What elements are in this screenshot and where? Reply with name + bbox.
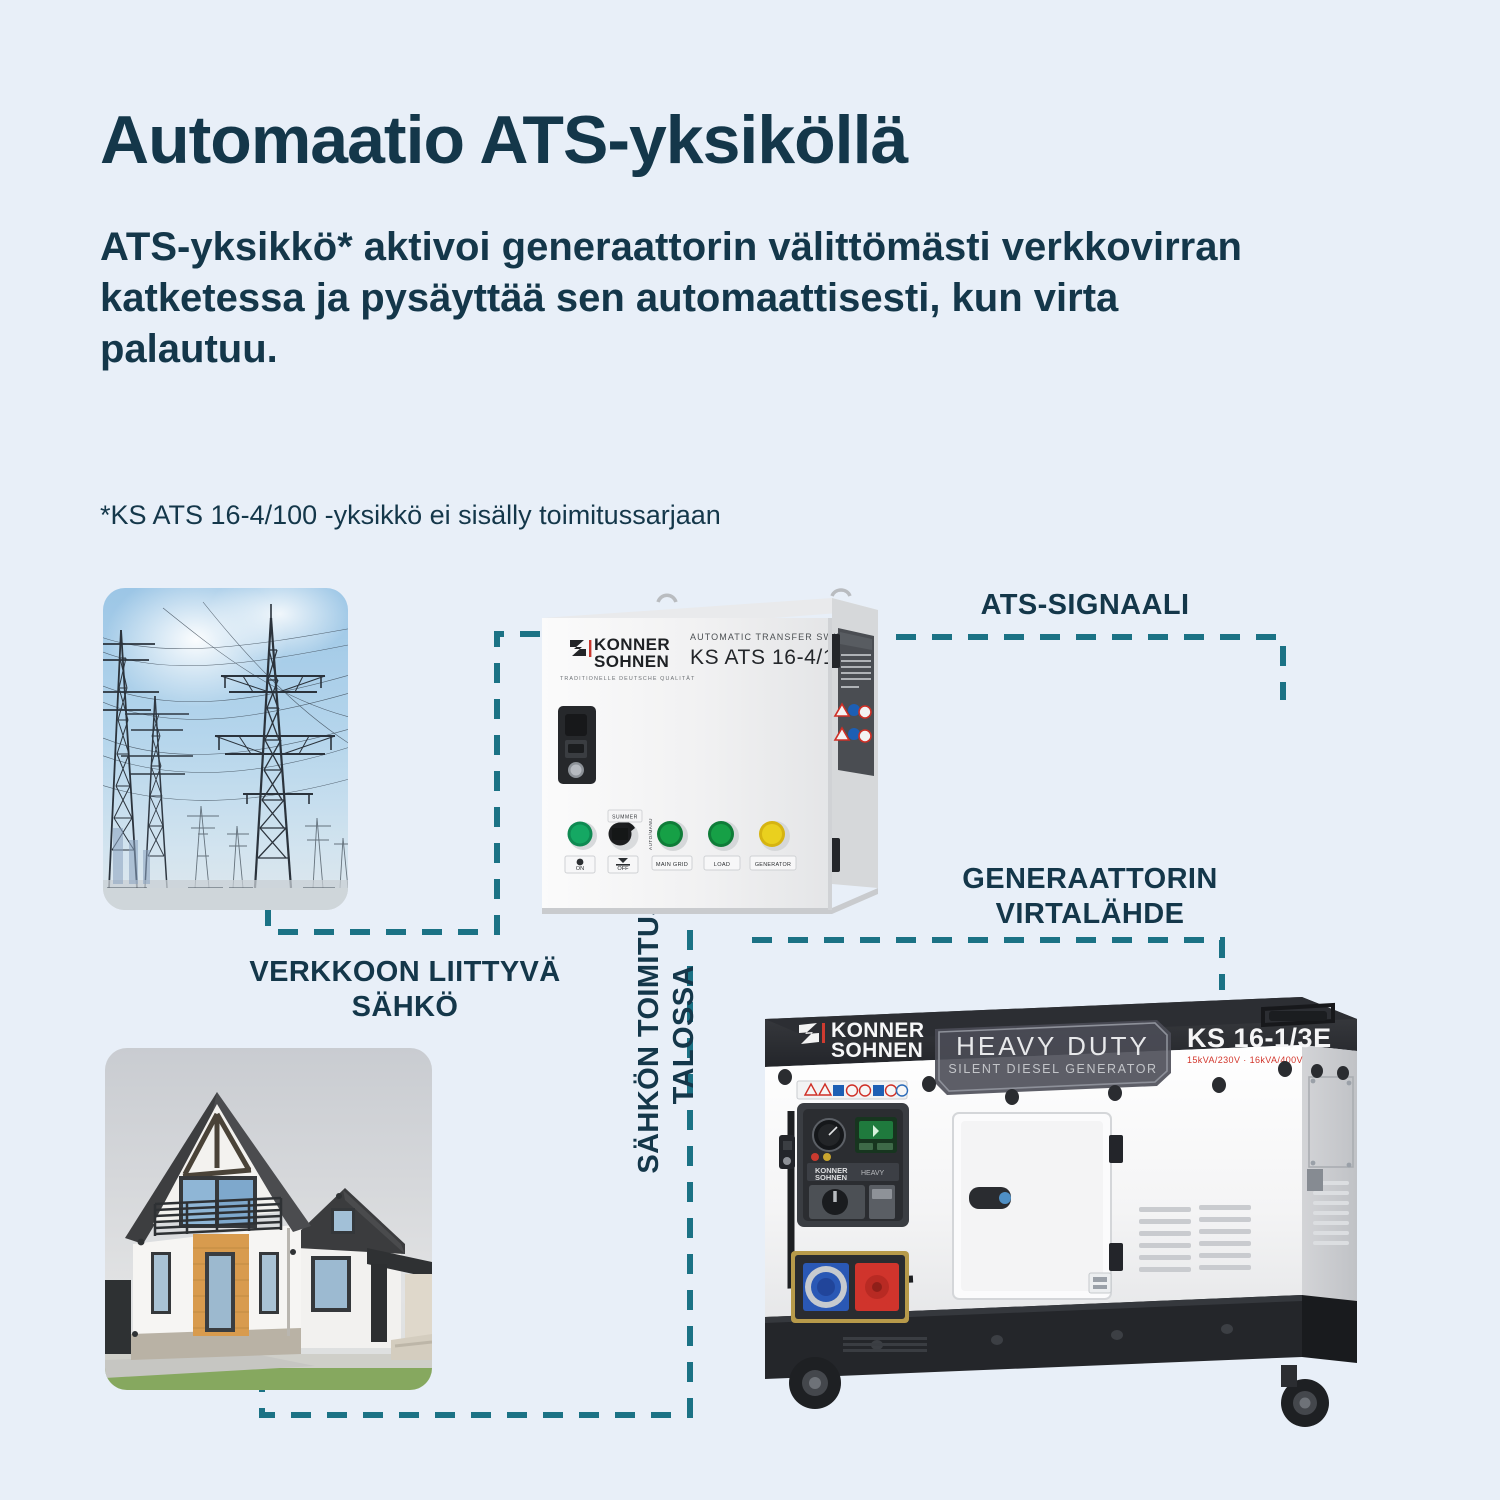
page-title: Automaatio ATS-yksiköllä [100,105,907,176]
infographic-canvas: Automaatio ATS-yksiköllä ATS-yksikkö* ak… [0,0,1500,1500]
wire-ats-signal-upper [896,637,1283,700]
ats-brand-line2: SOHNEN [594,652,669,671]
photo-power-transmission-lines [103,588,348,910]
ats-brand-tagline: TRADITIONELLE DEUTSCHE QUALITÄT [560,675,695,682]
generator-model: KS 16-1/3E [1187,1023,1332,1053]
wire-generator-power [752,940,1222,990]
ats-label-generator: GENERATOR [755,862,791,868]
generator-badge-line1: HEAVY DUTY [956,1031,1150,1061]
ats-label-main-grid: MAIN GRID [656,862,688,868]
generator-control-panel: KONNER SOHNEN HEAVY [797,1103,909,1227]
generator-socket-panel [791,1251,909,1323]
svg-text:HEAVY: HEAVY [861,1170,885,1177]
ats-label-summer: SUMMER [612,815,638,821]
svg-text:SOHNEN: SOHNEN [815,1173,847,1182]
generator-badge-line2: SILENT DIESEL GENERATOR [948,1062,1157,1076]
photo-residential-house [105,1048,432,1390]
generator-warning-stickers [797,1081,908,1099]
ats-side-spec-plate [835,628,874,776]
ats-unit-image: KONNER SOHNEN TRADITIONELLE DEUTSCHE QUA… [532,588,892,933]
callout-generator-power: GENERAATTORIN VIRTALÄHDE [900,862,1280,932]
ats-label-on: ON [576,866,584,872]
generator-art: KONNER SOHNEN HEAVY DUTY SILENT DIESEL G… [757,985,1377,1450]
ats-label-load: LOAD [714,862,730,868]
generator-image: KONNER SOHNEN HEAVY DUTY SILENT DIESEL G… [757,985,1377,1450]
generator-brand-line2: SOHNEN [831,1039,923,1062]
ats-unit-art: KONNER SOHNEN TRADITIONELLE DEUTSCHE QUA… [532,588,892,933]
footnote-text: *KS ATS 16-4/100 -yksikkö ei sisälly toi… [100,500,721,531]
callout-ats-signal: ATS-SIGNAALI [930,588,1240,623]
ats-label-off: OFF [617,866,629,872]
callout-grid-power: VERKKOON LIITTYVÄ SÄHKÖ [240,955,570,1025]
generator-service-hatch [953,1113,1111,1299]
house-art [105,1048,432,1390]
pylon-lattice-art [103,588,348,910]
generator-heavy-duty-badge: HEAVY DUTY SILENT DIESEL GENERATOR [935,1020,1171,1095]
ats-label-auto-manual: AUTO/MANU [648,818,653,850]
page-subtitle: ATS-yksikkö* aktivoi generaattorin välit… [100,222,1280,376]
